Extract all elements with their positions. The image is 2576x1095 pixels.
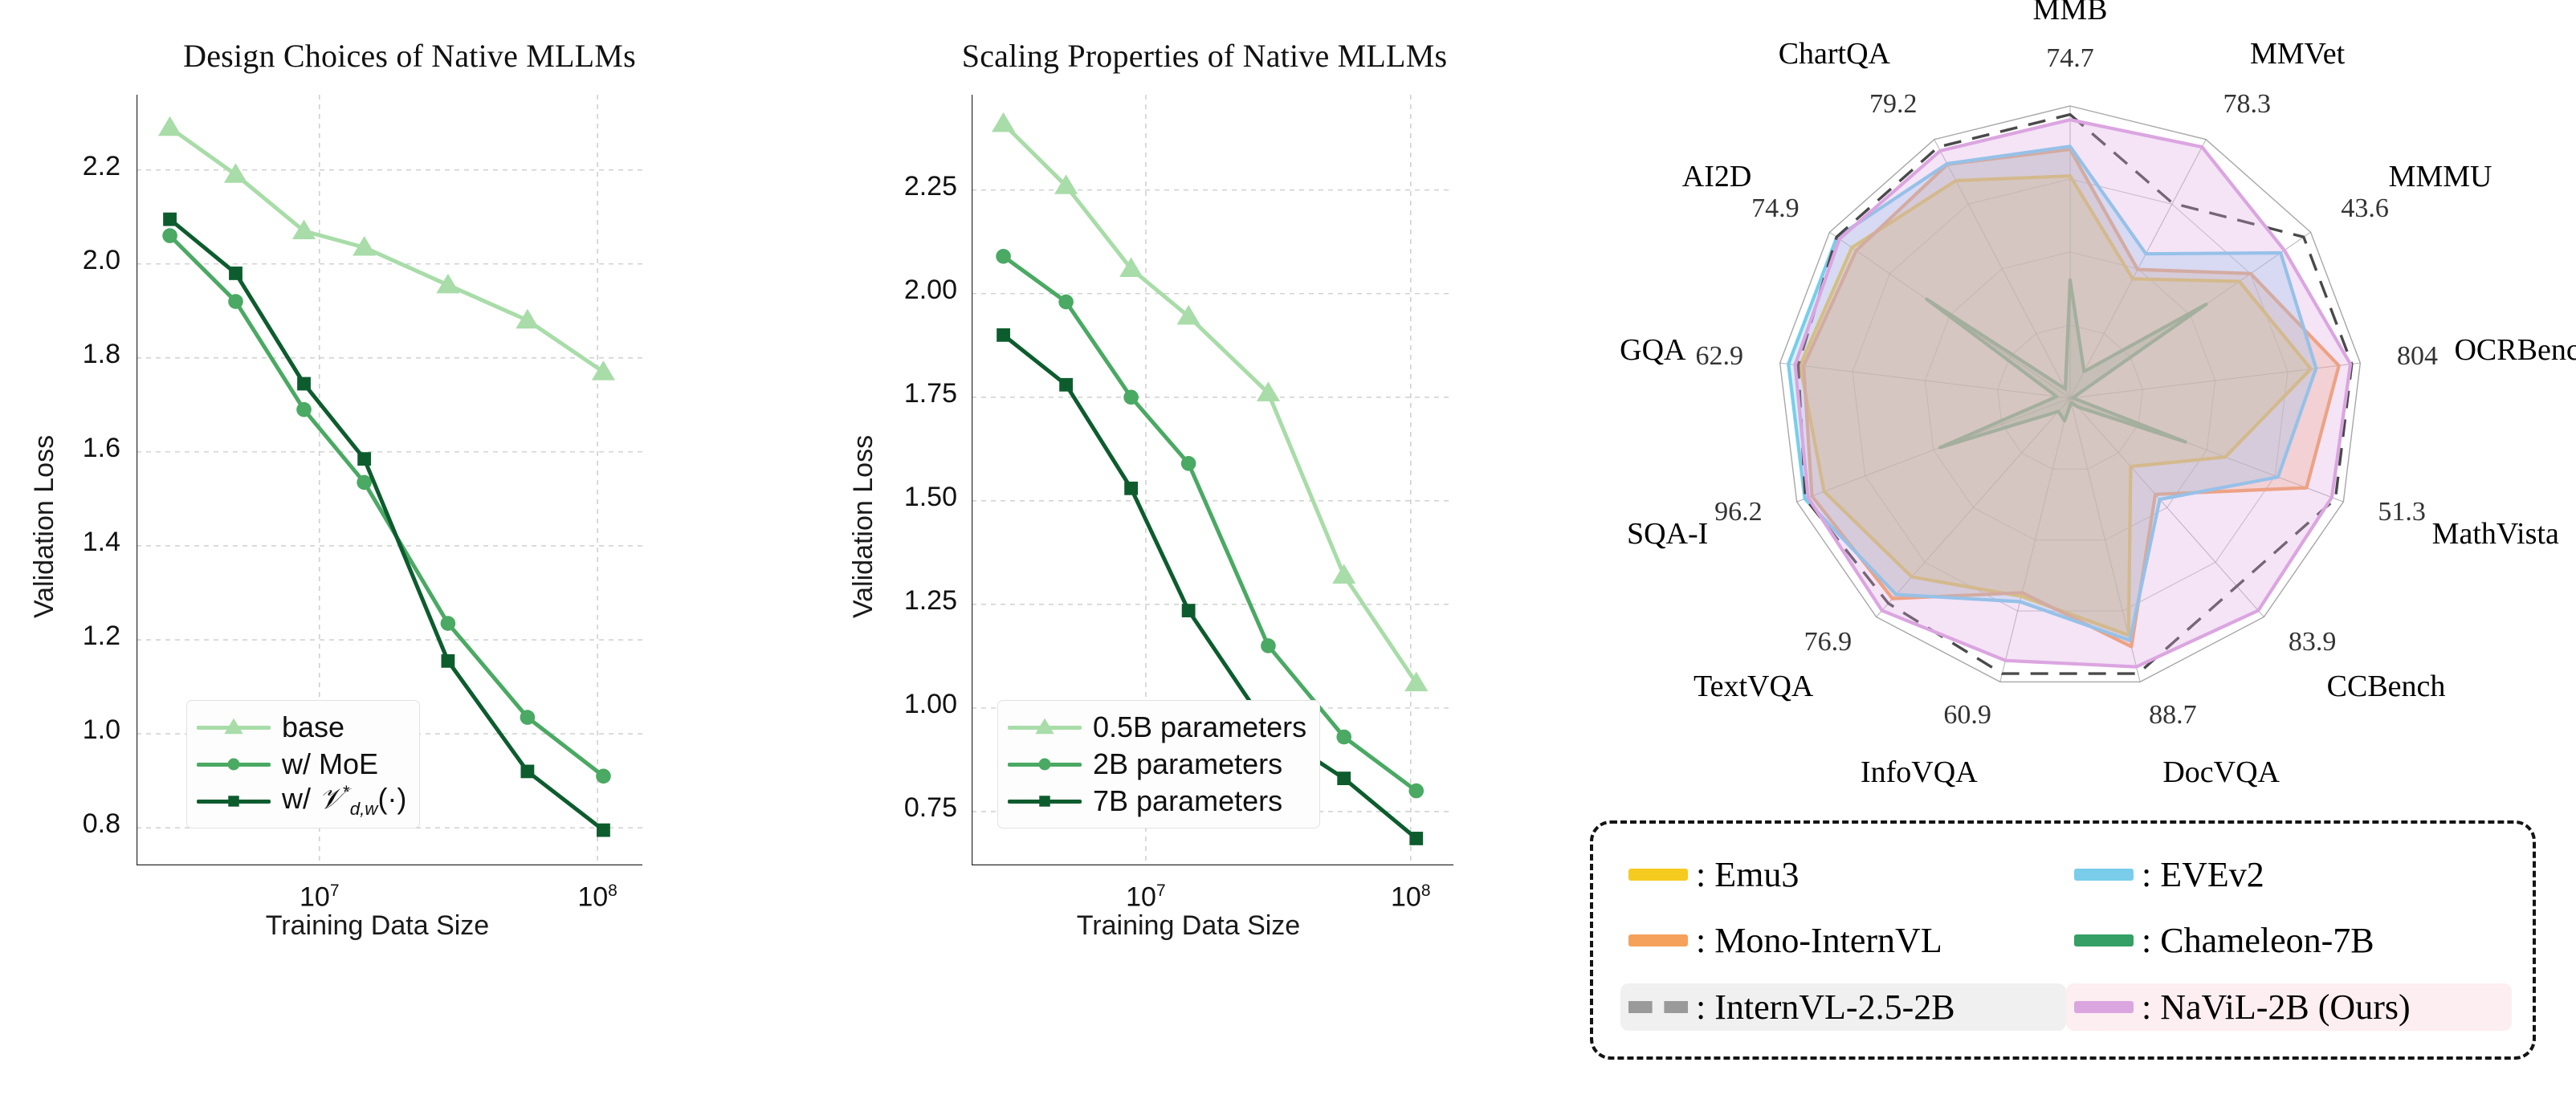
radar-legend-label: : InternVL-2.5-2B bbox=[1696, 987, 1955, 1028]
panel-benchmark-radar: MMB74.7MMVet78.3MMMU43.6OCRBench804MathV… bbox=[1574, 0, 2576, 1095]
radar-value-gqa: 62.9 bbox=[1695, 341, 1743, 372]
legend-item-label: 2B parameters bbox=[1093, 747, 1282, 781]
radar-value-docvqa: 88.7 bbox=[2149, 700, 2197, 731]
radar-legend-label: : Chameleon-7B bbox=[2142, 920, 2374, 961]
radar-legend-label: : Mono-InternVL bbox=[1696, 920, 1942, 961]
legend-triangle-icon bbox=[1008, 717, 1082, 738]
radar-axis-docvqa: DocVQA bbox=[2162, 755, 2280, 790]
y-tick: 1.6 bbox=[0, 433, 120, 464]
legend-item-label: 0.5B parameters bbox=[1093, 710, 1306, 744]
legend-design: basew/ MoEw/ 𝒱*d,w(·) bbox=[186, 700, 420, 828]
legend-scaling: 0.5B parameters2B parameters7B parameter… bbox=[997, 700, 1320, 828]
legend-item-label: w/ 𝒱*d,w(·) bbox=[282, 782, 406, 820]
radar-axis-gqa: GQA bbox=[1620, 332, 1685, 368]
radar-value-infovqa: 60.9 bbox=[1943, 700, 1991, 731]
x-tick: 107 bbox=[1082, 881, 1210, 913]
y-tick: 1.50 bbox=[819, 482, 957, 513]
y-tick: 0.8 bbox=[0, 808, 120, 840]
radar-chart: MMB74.7MMVet78.3MMMU43.6OCRBench804MathV… bbox=[1574, 0, 2576, 819]
radar-axis-infovqa: InfoVQA bbox=[1861, 755, 1978, 790]
panel-scaling-properties: Scaling Properties of Native MLLMs Valid… bbox=[819, 0, 1590, 1095]
y-tick: 1.4 bbox=[0, 527, 120, 558]
radar-axis-ccbench: CCBench bbox=[2327, 669, 2446, 704]
radar-axis-chartqa: ChartQA bbox=[1779, 36, 1890, 71]
radar-axis-mathvista: MathVista bbox=[2432, 516, 2559, 552]
y-tick: 1.00 bbox=[819, 689, 957, 720]
legend-item[interactable]: base bbox=[197, 709, 406, 746]
radar-value-textvqa: 76.9 bbox=[1804, 627, 1853, 657]
legend-item-label: w/ MoE bbox=[282, 747, 378, 781]
legend-square-icon bbox=[1008, 791, 1082, 812]
radar-legend: : Emu3: EVEv2: Mono-InternVL: Chameleon-… bbox=[1590, 820, 2536, 1060]
x-tick: 108 bbox=[1347, 881, 1475, 913]
radar-value-chartqa: 79.2 bbox=[1869, 89, 1918, 120]
radar-legend-swatch-icon bbox=[2074, 934, 2134, 946]
legend-triangle-icon bbox=[197, 717, 271, 738]
y-tick: 2.25 bbox=[819, 171, 957, 202]
radar-legend-item[interactable]: : Mono-InternVL bbox=[1620, 917, 2066, 964]
y-tick: 1.2 bbox=[0, 621, 120, 652]
legend-item[interactable]: 0.5B parameters bbox=[1008, 709, 1306, 746]
radar-legend-item[interactable]: : Chameleon-7B bbox=[2066, 917, 2512, 964]
radar-axis-mmvet: MMVet bbox=[2250, 36, 2345, 71]
radar-value-ocrbench: 804 bbox=[2397, 341, 2438, 372]
legend-square-icon bbox=[197, 791, 271, 812]
y-tick: 1.0 bbox=[0, 714, 120, 746]
radar-legend-swatch-icon bbox=[1628, 934, 1688, 946]
radar-axis-textvqa: TextVQA bbox=[1694, 669, 1813, 704]
radar-value-mmmu: 43.6 bbox=[2341, 193, 2389, 224]
radar-legend-swatch-icon bbox=[2074, 1001, 2134, 1013]
y-tick: 2.2 bbox=[0, 151, 120, 182]
radar-legend-label: : Emu3 bbox=[1696, 854, 1799, 895]
radar-value-mmb: 74.7 bbox=[2046, 43, 2094, 74]
x-tick: 107 bbox=[255, 881, 384, 913]
radar-value-ai2d: 74.9 bbox=[1751, 193, 1800, 224]
radar-legend-item[interactable]: : EVEv2 bbox=[2066, 851, 2512, 898]
radar-axis-mmb: MMB bbox=[2033, 0, 2108, 27]
chart-title-design: Design Choices of Native MLLMs bbox=[0, 37, 819, 75]
radar-axis-mmmu: MMMU bbox=[2389, 159, 2492, 194]
legend-item[interactable]: 2B parameters bbox=[1008, 746, 1306, 783]
y-tick: 2.00 bbox=[819, 275, 957, 306]
radar-legend-item[interactable]: : InternVL-2.5-2B bbox=[1620, 983, 2066, 1031]
radar-value-ccbench: 83.9 bbox=[2289, 627, 2337, 657]
radar-value-sqa-i: 96.2 bbox=[1714, 497, 1763, 527]
legend-item[interactable]: 7B parameters bbox=[1008, 783, 1306, 820]
radar-axis-sqa-i: SQA-I bbox=[1627, 516, 1708, 552]
radar-legend-label: : NaViL-2B (Ours) bbox=[2142, 987, 2411, 1028]
legend-item-label: base bbox=[282, 710, 344, 744]
legend-circle-icon bbox=[1008, 754, 1082, 775]
chart-title-scaling: Scaling Properties of Native MLLMs bbox=[819, 37, 1590, 75]
y-tick: 2.0 bbox=[0, 245, 120, 276]
radar-legend-swatch-icon bbox=[1628, 869, 1688, 881]
legend-circle-icon bbox=[197, 754, 271, 775]
radar-axis-ai2d: AI2D bbox=[1682, 159, 1752, 194]
x-axis-label-design: Training Data Size bbox=[112, 910, 642, 942]
y-tick: 1.8 bbox=[0, 339, 120, 370]
radar-value-mathvista: 51.3 bbox=[2378, 497, 2426, 527]
radar-value-mmvet: 78.3 bbox=[2223, 89, 2272, 120]
panel-design-choices: Design Choices of Native MLLMs Validatio… bbox=[0, 0, 819, 1095]
y-tick: 1.25 bbox=[819, 585, 957, 617]
x-tick: 108 bbox=[533, 881, 662, 913]
legend-item[interactable]: w/ MoE bbox=[197, 746, 406, 783]
radar-legend-swatch-icon bbox=[1628, 1001, 1688, 1013]
y-tick: 0.75 bbox=[819, 792, 957, 824]
x-axis-label-scaling: Training Data Size bbox=[923, 910, 1453, 942]
radar-legend-item[interactable]: : Emu3 bbox=[1620, 851, 2066, 898]
radar-legend-swatch-icon bbox=[2074, 869, 2134, 881]
radar-legend-item[interactable]: : NaViL-2B (Ours) bbox=[2066, 983, 2512, 1031]
y-tick: 1.75 bbox=[819, 378, 957, 409]
legend-item-label: 7B parameters bbox=[1093, 784, 1282, 818]
radar-legend-label: : EVEv2 bbox=[2142, 854, 2264, 895]
figure-root: Design Choices of Native MLLMs Validatio… bbox=[0, 0, 2576, 1095]
legend-item[interactable]: w/ 𝒱*d,w(·) bbox=[197, 783, 406, 820]
radar-axis-ocrbench: OCRBench bbox=[2454, 332, 2576, 368]
